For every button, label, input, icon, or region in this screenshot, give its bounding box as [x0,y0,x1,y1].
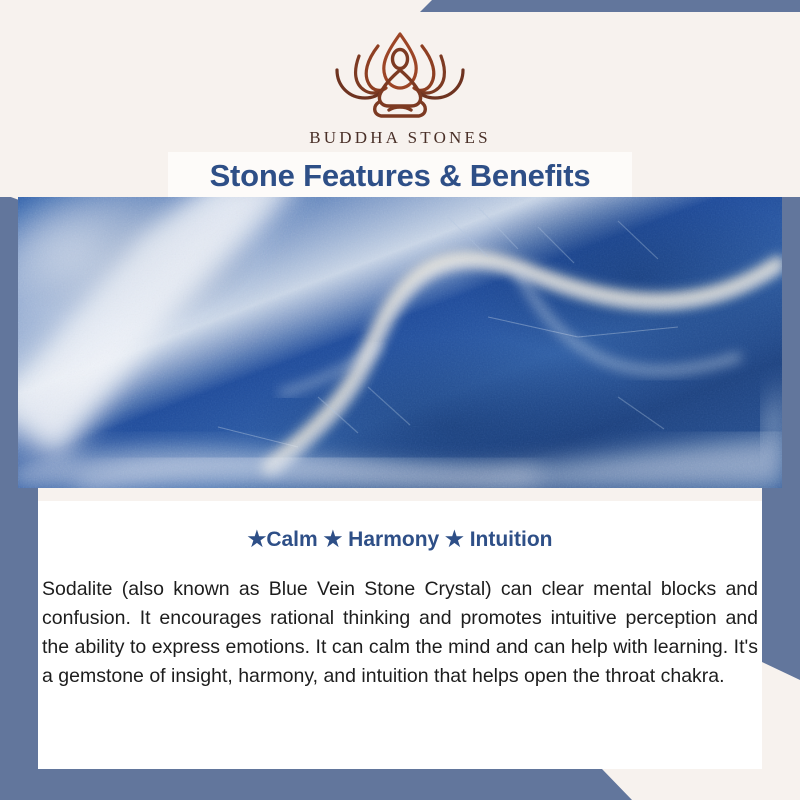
lotus-meditation-figure-icon [315,26,485,126]
page-title: Stone Features & Benefits [210,158,591,194]
infographic-page: BUDDHA STONES Stone Features & Benefits [0,0,800,800]
stone-description: Sodalite (also known as Blue Vein Stone … [42,575,758,691]
page-title-banner: Stone Features & Benefits [168,152,632,200]
brand-logo: BUDDHA STONES [0,26,800,148]
brand-name: BUDDHA STONES [0,128,800,148]
keywords-line: ★Calm ★ Harmony ★ Intuition [38,527,762,552]
header-area: BUDDHA STONES Stone Features & Benefits [0,12,800,197]
content-card: ★Calm ★ Harmony ★ Intuition Sodalite (al… [38,501,762,769]
stone-image: Sodalite [18,197,782,488]
sodalite-texture-graphic [18,197,782,488]
decor-bottom-right-notch [600,769,800,800]
